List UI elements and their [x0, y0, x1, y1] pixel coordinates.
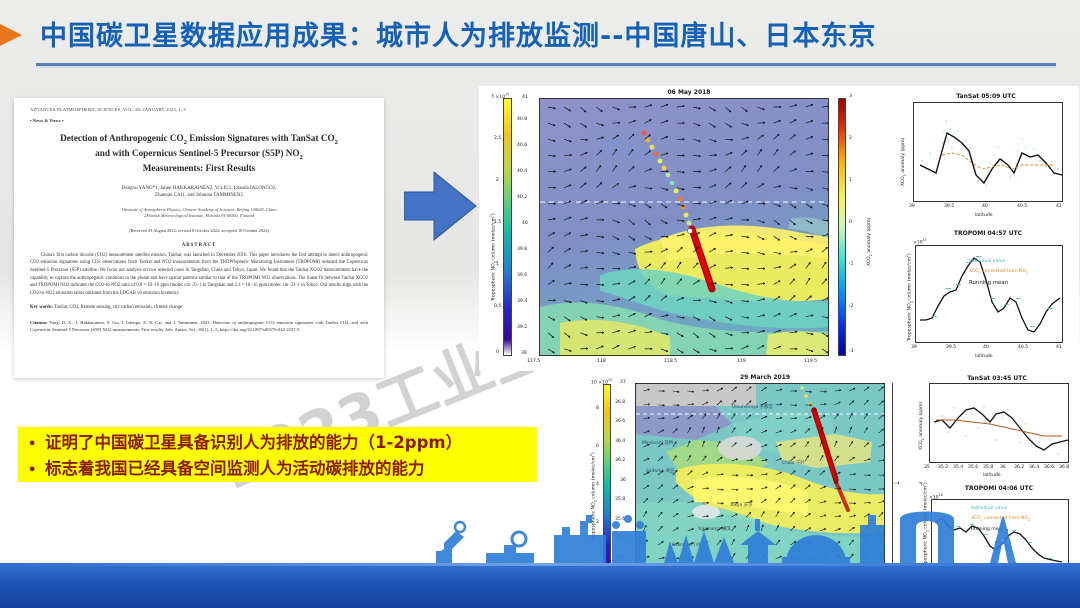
tangshan-ytick-40_4: 40.4 [517, 169, 527, 174]
paper-affiliations: 1Institute of Atmospheric Physics, Chine… [30, 207, 368, 220]
tropomi-tangshan-legend-2: Running mean [969, 280, 1008, 286]
tangshan-xco2-cb-tick-m3: -3 [849, 349, 854, 354]
tropomi-tangshan-legend-1: XCO2 converted from NO2 [969, 269, 1028, 275]
tansat-tangshan-ylabel: XCO2 anomaly (ppm) [901, 138, 907, 186]
tansat-tokyo-xtick-9: 36.8 [1059, 465, 1069, 470]
tokyo-no2-cb-exponent: 10 ×1015 [591, 378, 612, 386]
tansat-tokyo-xtick-2: 35.4 [953, 465, 963, 470]
callout-text-2: 标志着我国已经具备空间监测人为活动碳排放的能力 [45, 457, 425, 481]
tangshan-xco2-cb-label: XCO2 anomaly (ppm) [867, 218, 873, 266]
tansat-tangshan-xtick-1: 39.5 [944, 204, 954, 209]
tansat-tangshan-xtick-3: 40.5 [1017, 204, 1027, 209]
tokyo-ytick-36_8: 36.8 [615, 400, 625, 405]
tansat-tokyo-xtick-7: 36.4 [1029, 465, 1039, 470]
paper-received-line: (Received 29 August 2022; revised 8 Octo… [30, 228, 368, 233]
paper-citation: Citation: Yang, D. X., J. Hakkarainen, Y… [30, 319, 368, 334]
tropomi-tangshan-xtick-3: 40.5 [1018, 345, 1028, 350]
bullet-icon-2: • [28, 459, 45, 483]
tansat-tokyo-xtick-6: 36.2 [1014, 465, 1024, 470]
paper-keywords-text: TanSat, CO2, Remote sensing, city carbon… [54, 305, 182, 310]
tangshan-no2-colorbar [503, 98, 512, 356]
paper-title: Detection of Anthropogenic CO2 Emission … [30, 132, 368, 176]
callout-bullet-1: • 证明了中国碳卫星具备识别人为排放的能力（1-2ppm） [28, 431, 531, 457]
paper-title-line-1: Detection of Anthropogenic CO2 Emission … [30, 132, 368, 147]
tangshan-ytick-40_8: 40.8 [517, 117, 527, 122]
city-label-chiba: Chiba 千叶 [782, 460, 805, 466]
paper-title-line-3: Measurements: First Results [30, 162, 368, 175]
callout-text-1: 证明了中国碳卫星具备识别人为排放的能力（1-2ppm） [45, 431, 462, 455]
tangshan-ytick-40: 40 [522, 221, 528, 226]
tangshan-ytick-39_2: 39.2 [517, 325, 527, 330]
tangshan-xco2-cb-tick-0: 0 [849, 220, 852, 225]
tansat-tokyo-xtick-3: 35.6 [968, 465, 978, 470]
tokyo-ytick-37: 37 [620, 380, 626, 385]
tansat-tangshan-xtick-2: 40 [982, 204, 988, 209]
tansat-tokyo-xtick-8: 36.6 [1044, 465, 1054, 470]
tropomi-tangshan-xtick-1: 39.5 [946, 345, 956, 350]
tropomi-tangshan-chart: TROPOMI 04:57 UTC ×1015 Individual value… [883, 229, 1073, 365]
tropomi-tangshan-ylabel: Tropospheric NO2 column (molec/cm2) [905, 253, 913, 341]
tangshan-xco2-cb-tick-1: 1 [849, 178, 852, 183]
tangshan-xtick-1: 118 [597, 359, 606, 364]
slide-canvas: 中国碳卫星数据应用成果：城市人为排放监测--中国唐山、日本东京 ADVANCES… [0, 0, 1080, 608]
tansat-tangshan-plot [913, 102, 1063, 202]
tansat-tokyo-xtick-0: 35 [924, 465, 930, 470]
paper-citation-label: Citation: [30, 320, 48, 325]
paper-abstract-label: ABSTRACT [30, 243, 368, 248]
tangshan-no2-cb-tick-2_5: 2.5 [494, 136, 501, 141]
tropomi-tangshan-xtick-4: 41 [1056, 345, 1062, 350]
tansat-tokyo-plot [929, 383, 1069, 463]
tangshan-map-plot [539, 98, 829, 356]
tokyo-ytick-35_8: 35.8 [615, 497, 625, 502]
paper-affiliation-2: 2Finnish Meteorological Institute, Helsi… [30, 213, 368, 220]
tropomi-tangshan-xtick-2: 40 [983, 345, 989, 350]
conclusions-callout: • 证明了中国碳卫星具备识别人为排放的能力（1-2ppm） • 标志着我国已经具… [18, 427, 537, 482]
tangshan-xtick-3: 119 [737, 359, 746, 364]
paper-affiliation-1: 1Institute of Atmospheric Physics, Chine… [30, 207, 368, 214]
bullet-icon-1: • [28, 433, 45, 457]
tropomi-tangshan-legend-0: Individual value [969, 259, 1005, 264]
tansat-tokyo-chart: TanSat 03:45 UTC ratio 2.25 × 10-16 ppm/… [893, 374, 1079, 482]
page-title: 中国碳卫星数据应用成果：城市人为排放监测--中国唐山、日本东京 [40, 14, 876, 53]
tangshan-ytick-39_4: 39.4 [517, 299, 527, 304]
tangshan-no2-cb-exponent: 3 ×1015 [491, 92, 509, 100]
tansat-tangshan-xtick-4: 41 [1056, 204, 1062, 209]
tansat-tokyo-xlabel: latitude [983, 473, 1001, 478]
tokyo-ytick-36: 36 [620, 478, 626, 483]
tangshan-ytick-39_6: 39.6 [517, 273, 527, 278]
header-divider [36, 63, 1056, 66]
skyline-decoration-icon [430, 505, 1080, 567]
paper-journal-line: ADVANCES IN ATMOSPHERIC SCIENCES, VOL. 4… [30, 107, 368, 112]
tangshan-xco2-cb-tick-m1: -1 [849, 262, 854, 267]
tangshan-ytick-40_2: 40.2 [517, 195, 527, 200]
tangshan-ytick-39: 39 [521, 351, 527, 356]
tangshan-figure-panel: 3 ×1015 2.5 2 1.5 1 0.5 0 Tropospheric N… [479, 86, 1079, 371]
tokyo-ytick-36_2: 36.2 [615, 458, 625, 463]
tangshan-xtick-4: 119.5 [804, 359, 817, 364]
city-label-maebashi: Maebashi 前桥 [642, 440, 673, 446]
tansat-tokyo-xtick-5: 36 [1000, 465, 1006, 470]
paper-keywords-label: Key words: [30, 305, 53, 310]
tangshan-no2-cb-label: Tropospheric NO2 column (molec/cm2) [489, 213, 497, 301]
paper-authors-line-2: Zhaonan CAI1, and Johanna TAMMINEN2 [30, 192, 368, 200]
slide-header: 中国碳卫星数据应用成果：城市人为排放监测--中国唐山、日本东京 [0, 8, 1080, 64]
tansat-tangshan-xlabel: latitude [975, 213, 993, 218]
paper-title-line-2: and with Copernicus Sentinel-5 Precursor… [30, 147, 368, 162]
tangshan-xco2-cb-tick-m2: -2 [849, 304, 854, 309]
tangshan-map-title: 06 May 2018 [539, 89, 839, 96]
paper-thumbnail: ADVANCES IN ATMOSPHERIC SCIENCES, VOL. 4… [14, 98, 384, 378]
tangshan-xco2-cb-tick-2: 2 [849, 136, 852, 141]
paper-keywords: Key words: TanSat, CO2, Remote sensing, … [30, 304, 368, 312]
tropomi-tangshan-xtick-0: 39 [911, 345, 917, 350]
tangshan-xtick-2: 118.5 [664, 359, 677, 364]
tangshan-ytick-39_8: 39.8 [517, 247, 527, 252]
paper-abstract-text: China's first carbon dioxide (CO2) measu… [30, 252, 368, 298]
tangshan-no2-cb-tick-0: 0 [496, 350, 499, 355]
paper-kicker: • News & Views • [30, 118, 368, 123]
tokyo-map-title: 29 March 2019 [635, 374, 895, 381]
tangshan-xtick-0: 117.5 [527, 359, 540, 364]
tansat-tokyo-xtick-4: 35.8 [983, 465, 993, 470]
paper-authors-line-1: Dongxu YANG*1, Janne HAKKARAINEN2, Yi LI… [30, 185, 368, 193]
paper-citation-text: Yang, D. X., J. Hakkarainen, Y. Liu, I. … [30, 320, 368, 332]
tangshan-ytick-40_6: 40.6 [517, 143, 527, 148]
tangshan-xco2-colorbar [838, 98, 846, 356]
tropomi-tangshan-xlabel: latitude [975, 354, 993, 359]
tansat-tokyo-xtick-1: 35.2 [938, 465, 948, 470]
tansat-tokyo-title: TanSat 03:45 UTC [927, 375, 1067, 382]
tansat-tangshan-xtick-0: 39 [909, 204, 915, 209]
tangshan-map-raster [540, 99, 828, 355]
tangshan-ytick-41: 41 [522, 95, 528, 100]
tokyo-no2-cb-tick-6: 6 [596, 444, 599, 449]
tangshan-no2-cb-tick-0_5: 0.5 [494, 304, 501, 309]
tokyo-ytick-36_4: 36.4 [615, 439, 625, 444]
city-label-saitama: Saitama 埼玉 [646, 468, 674, 474]
blue-right-arrow-icon [404, 170, 478, 242]
tokyo-ytick-36_6: 36.6 [615, 419, 625, 424]
city-label-utsunomiya: Utsunomiya 宇都宫 [732, 404, 773, 410]
tropomi-tangshan-title: TROPOMI 04:57 UTC [913, 230, 1063, 237]
paper-authors: Dongxu YANG*1, Janne HAKKARAINEN2, Yi LI… [30, 185, 368, 200]
tokyo-no2-cb-tick-8: 8 [596, 406, 599, 411]
orange-triangle-marker-icon [0, 18, 22, 52]
tropomi-tokyo-title: TROPOMI 04:06 UTC [929, 485, 1069, 492]
tangshan-no2-cb-tick-2: 2 [496, 178, 499, 183]
tansat-tangshan-chart: TanSat 05:09 UTC Ratio 0.8 × 10-16 ppm/(… [883, 92, 1073, 224]
tansat-tangshan-title: TanSat 05:09 UTC [911, 93, 1061, 100]
footer-band [0, 566, 1080, 608]
callout-bullet-2: • 标志着我国已经具备空间监测人为活动碳排放的能力 [28, 457, 531, 483]
tansat-tokyo-ylabel: XCO2 anomaly (ppm) [919, 402, 925, 450]
tangshan-xco2-cb-tick-3: 3 [849, 94, 852, 99]
